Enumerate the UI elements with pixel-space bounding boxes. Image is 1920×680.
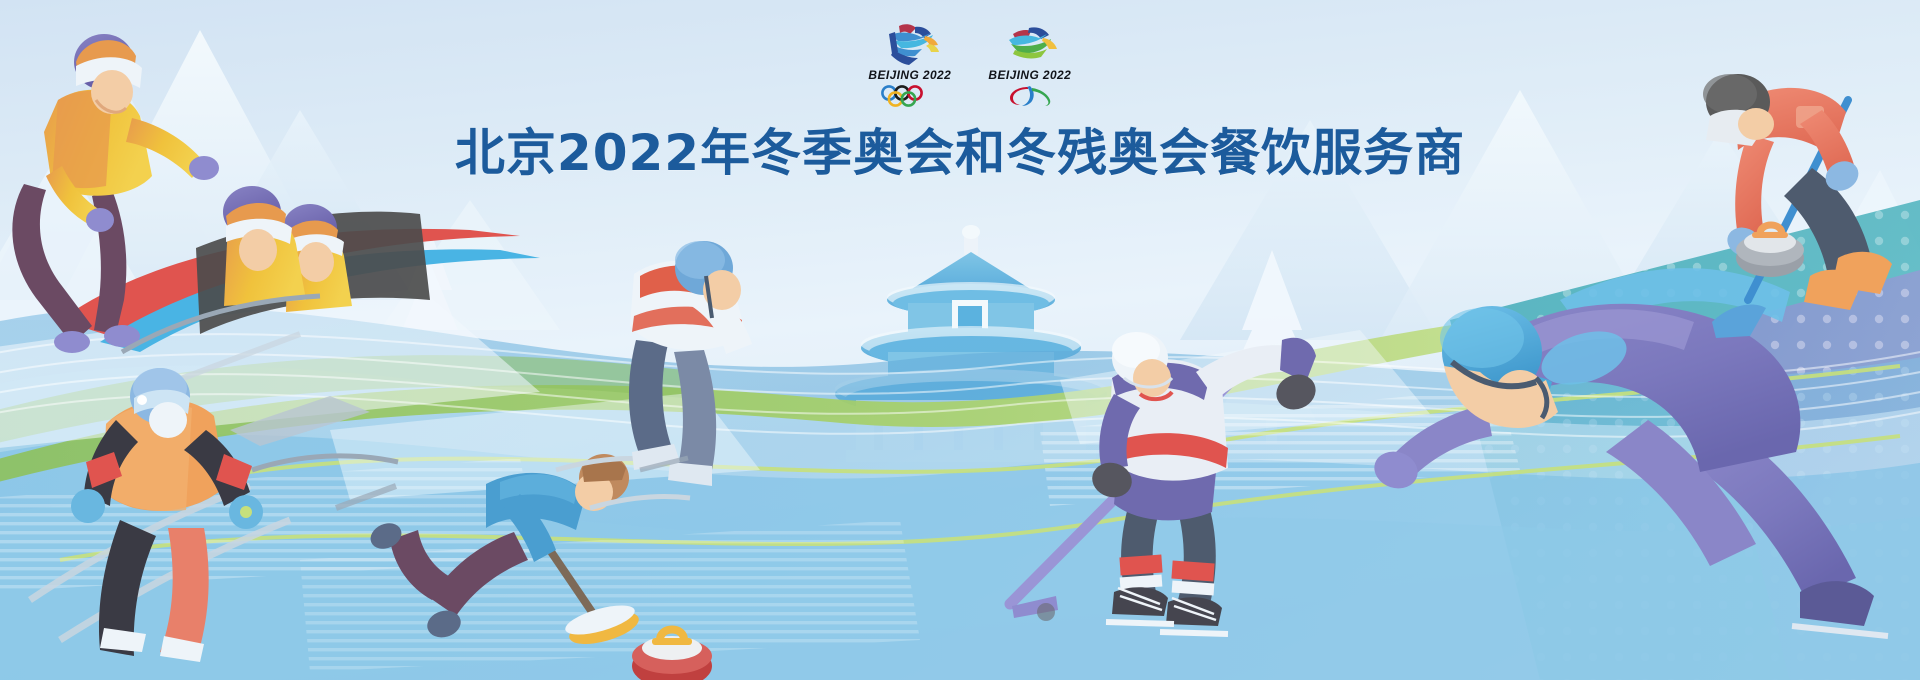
- olympic-wordmark: BEIJING 2022: [869, 70, 952, 82]
- curling-stone-red: [632, 630, 712, 680]
- alpine-skier: [30, 296, 398, 662]
- agitos-icon: [1004, 85, 1056, 107]
- beijing-2022-olympic-emblem-icon: [879, 22, 941, 68]
- speed-skater-right: [1370, 268, 1888, 636]
- curler-sweeper-left: [367, 454, 643, 650]
- paralympic-wordmark: BEIJING 2022: [989, 70, 1072, 82]
- ice-hockey-player: [1010, 332, 1321, 634]
- olympic-rings-icon: [877, 85, 943, 107]
- olympics-banner: BEIJING 2022 BEIJING 2022: [0, 0, 1920, 680]
- paralympic-emblem-block: BEIJING 2022: [980, 22, 1080, 107]
- olympic-emblem-block: BEIJING 2022: [860, 22, 960, 107]
- emblem-row: BEIJING 2022 BEIJING 2022: [860, 22, 1080, 122]
- bobsled-crew-front: [223, 186, 306, 306]
- beijing-2022-paralympic-emblem-icon: [999, 22, 1061, 68]
